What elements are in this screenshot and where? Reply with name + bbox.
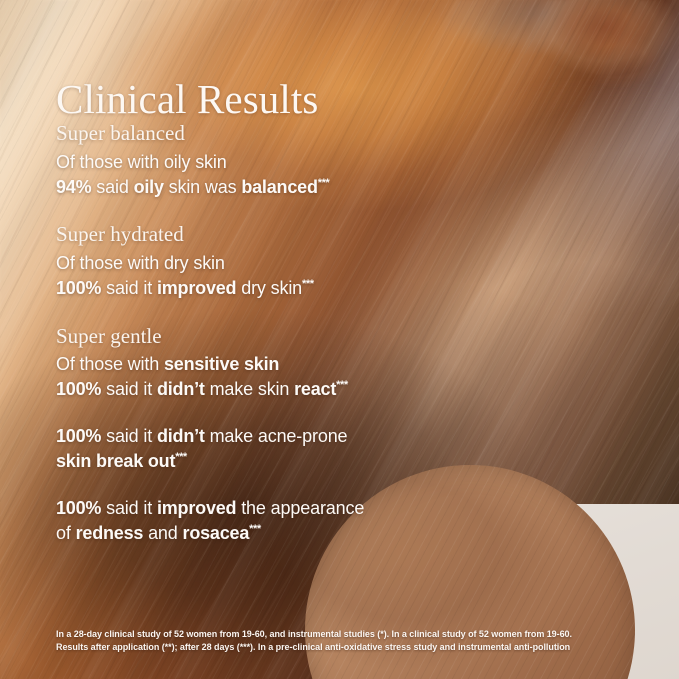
emphasis-text: 100% bbox=[56, 498, 101, 518]
footnote-marker: *** bbox=[302, 278, 314, 290]
emphasis-text: sensitive skin bbox=[164, 354, 279, 374]
plain-text: Of those with oily skin bbox=[56, 152, 227, 172]
footnote: In a 28-day clinical study of 52 women f… bbox=[56, 628, 639, 655]
result-block-line-1: Of those with sensitive skin bbox=[56, 352, 639, 377]
clinical-results-card: Clinical Results Super balancedOf those … bbox=[0, 0, 679, 679]
emphasis-text: react bbox=[294, 379, 336, 399]
plain-text: said it bbox=[101, 278, 157, 298]
emphasis-text: improved bbox=[157, 498, 236, 518]
emphasis-text: redness bbox=[76, 523, 144, 543]
result-block-line-2: 100% said it improved dry skin*** bbox=[56, 276, 639, 301]
plain-text: make skin bbox=[205, 379, 294, 399]
plain-text: and bbox=[143, 523, 182, 543]
result-block: 100% said it didn’t make acne-proneskin … bbox=[56, 424, 639, 474]
result-block-line-1: Of those with oily skin bbox=[56, 150, 639, 175]
result-block-line-1: 100% said it improved the appearance bbox=[56, 496, 639, 521]
plain-text: of bbox=[56, 523, 76, 543]
emphasis-text: oily bbox=[134, 177, 164, 197]
emphasis-text: 100% bbox=[56, 379, 101, 399]
plain-text: said it bbox=[101, 498, 157, 518]
emphasis-text: 100% bbox=[56, 426, 101, 446]
emphasis-text: improved bbox=[157, 278, 236, 298]
footnote-line-1: In a 28-day clinical study of 52 women f… bbox=[56, 628, 639, 642]
footnote-marker: *** bbox=[336, 379, 348, 391]
footnote-marker: *** bbox=[249, 523, 261, 535]
result-block-heading: Super balanced bbox=[56, 120, 639, 148]
result-block-line-1: Of those with dry skin bbox=[56, 251, 639, 276]
content-container: Clinical Results Super balancedOf those … bbox=[0, 0, 679, 679]
footnote-marker: *** bbox=[175, 451, 187, 463]
plain-text: dry skin bbox=[236, 278, 302, 298]
result-block-heading: Super hydrated bbox=[56, 221, 639, 249]
result-block-line-2: 100% said it didn’t make skin react*** bbox=[56, 377, 639, 402]
plain-text: said it bbox=[101, 379, 157, 399]
plain-text: said bbox=[91, 177, 133, 197]
results-list: Super balancedOf those with oily skin94%… bbox=[56, 120, 639, 545]
result-block-line-2: of redness and rosacea*** bbox=[56, 521, 639, 546]
result-block: Super hydratedOf those with dry skin100%… bbox=[56, 221, 639, 300]
result-block: Super balancedOf those with oily skin94%… bbox=[56, 120, 639, 199]
plain-text: said it bbox=[101, 426, 157, 446]
plain-text: the appearance bbox=[236, 498, 364, 518]
result-block: 100% said it improved the appearanceof r… bbox=[56, 496, 639, 546]
emphasis-text: 100% bbox=[56, 278, 101, 298]
footnote-marker: *** bbox=[318, 177, 330, 189]
emphasis-text: didn’t bbox=[157, 379, 205, 399]
plain-text: Of those with bbox=[56, 354, 164, 374]
emphasis-text: rosacea bbox=[183, 523, 250, 543]
result-block-line-2: 94% said oily skin was balanced*** bbox=[56, 175, 639, 200]
footnote-line-2: Results after application (**); after 28… bbox=[56, 641, 639, 655]
result-block-heading: Super gentle bbox=[56, 323, 639, 351]
emphasis-text: skin break out bbox=[56, 451, 175, 471]
emphasis-text: balanced bbox=[241, 177, 317, 197]
result-block-line-2: skin break out*** bbox=[56, 449, 639, 474]
emphasis-text: 94% bbox=[56, 177, 91, 197]
plain-text: make acne-prone bbox=[205, 426, 348, 446]
emphasis-text: didn’t bbox=[157, 426, 205, 446]
result-block-line-1: 100% said it didn’t make acne-prone bbox=[56, 424, 639, 449]
plain-text: skin was bbox=[164, 177, 242, 197]
page-title: Clinical Results bbox=[56, 79, 318, 120]
result-block: Super gentleOf those with sensitive skin… bbox=[56, 323, 639, 402]
plain-text: Of those with dry skin bbox=[56, 253, 225, 273]
